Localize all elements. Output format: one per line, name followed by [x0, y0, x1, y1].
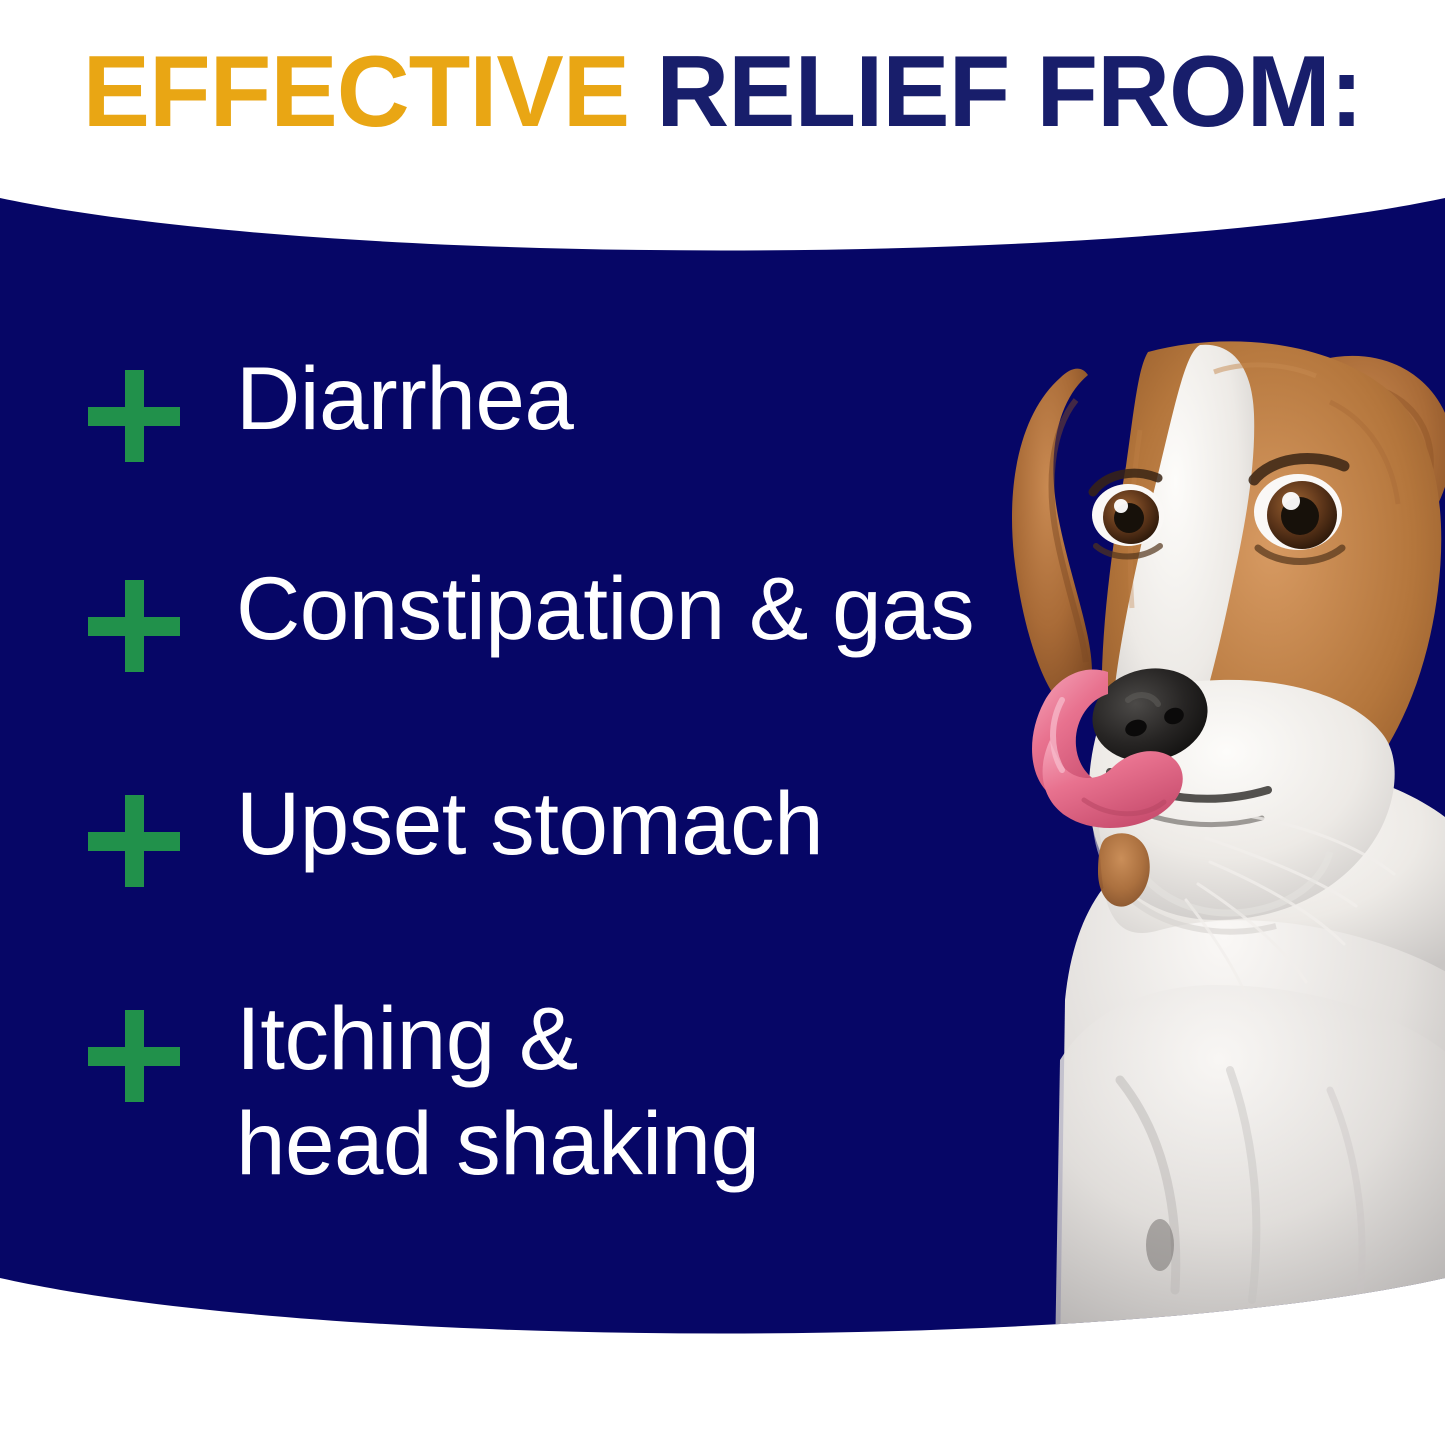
green-plus-icon — [88, 1010, 180, 1102]
benefit-label: Constipation & gas — [236, 556, 974, 661]
benefit-item-itching-head-shaking: Itching & head shaking — [88, 1010, 759, 1196]
benefit-label: Itching & head shaking — [236, 986, 759, 1196]
benefit-label: Upset stomach — [236, 771, 823, 876]
title-rest: RELIEF FROM: — [629, 36, 1362, 148]
header-banner: EFFECTIVE RELIEF FROM: — [0, 0, 1445, 185]
benefit-label: Diarrhea — [236, 346, 573, 451]
green-plus-icon — [88, 580, 180, 672]
page-title: EFFECTIVE RELIEF FROM: — [83, 42, 1363, 143]
benefit-list: Diarrhea Constipation & gas Upset stomac… — [0, 0, 1445, 1445]
benefit-item-diarrhea: Diarrhea — [88, 370, 573, 462]
green-plus-icon — [88, 370, 180, 462]
benefit-item-upset-stomach: Upset stomach — [88, 795, 823, 887]
benefit-item-constipation-gas: Constipation & gas — [88, 580, 974, 672]
product-feature-graphic: EFFECTIVE RELIEF FROM: Diarrhea Constipa… — [0, 0, 1445, 1445]
green-plus-icon — [88, 795, 180, 887]
title-emphasis: EFFECTIVE — [83, 36, 630, 148]
